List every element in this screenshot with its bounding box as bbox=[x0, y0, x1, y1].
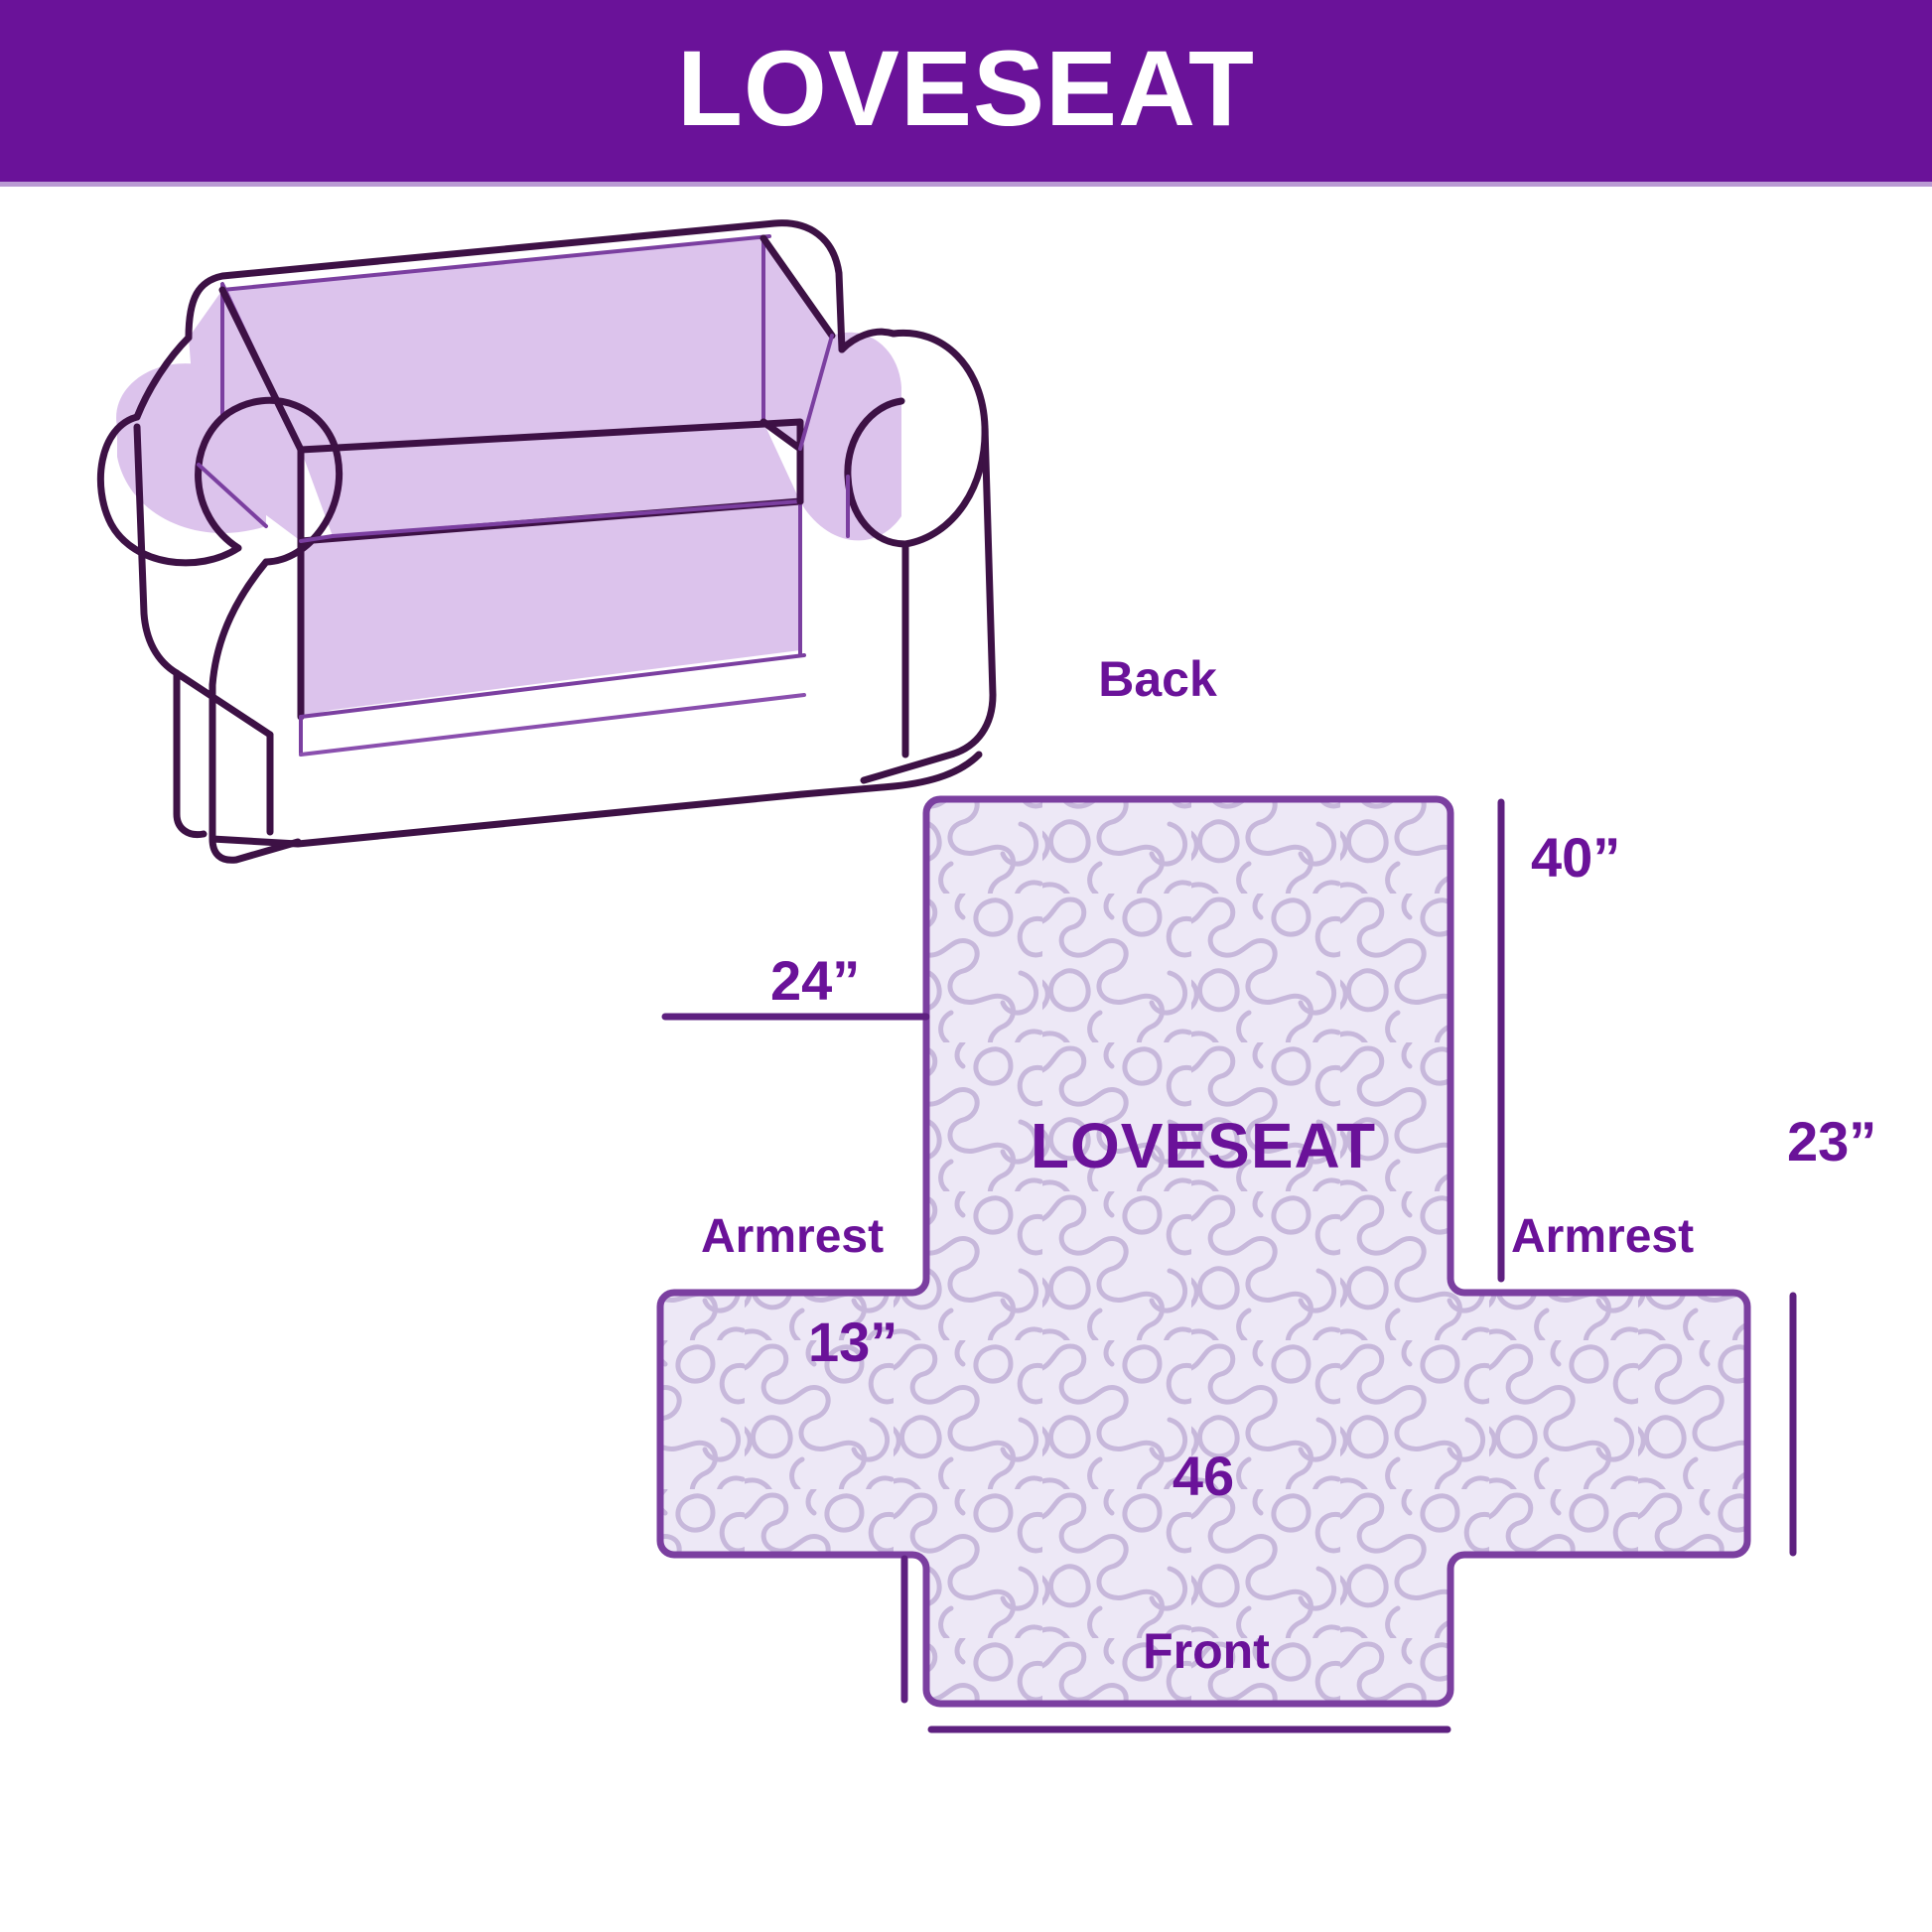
dimension-label-front-width: 46 bbox=[1173, 1449, 1234, 1504]
page-title: LOVESEAT bbox=[0, 0, 1932, 182]
pattern-center-label: LOVESEAT bbox=[1031, 1114, 1376, 1177]
panel-label-front: Front bbox=[1143, 1626, 1270, 1676]
header-banner-underline bbox=[0, 182, 1932, 187]
panel-label-back: Back bbox=[1098, 654, 1217, 704]
slipcover-pattern-piece bbox=[0, 0, 1932, 1932]
dimension-label-armrest-depth: 23” bbox=[1787, 1114, 1876, 1170]
dimension-label-back-height: 40” bbox=[1531, 830, 1620, 886]
panel-label-armrest-right: Armrest bbox=[1511, 1213, 1694, 1261]
product-size-diagram: LOVESEAT bbox=[0, 0, 1932, 1932]
panel-label-armrest-left: Armrest bbox=[701, 1213, 884, 1261]
dimension-label-front-height: 13” bbox=[808, 1314, 897, 1370]
dimension-label-back-width: 24” bbox=[770, 953, 860, 1009]
loveseat-illustration bbox=[0, 0, 1932, 1932]
